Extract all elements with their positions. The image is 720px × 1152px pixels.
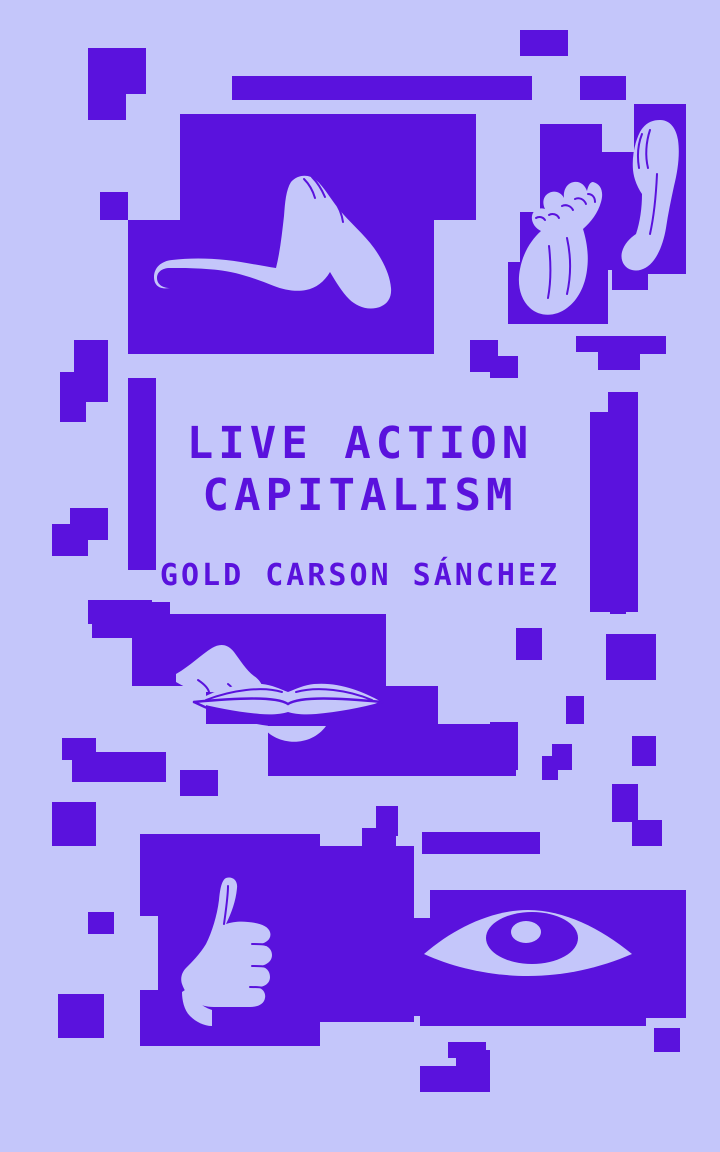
decor-tall-bar <box>590 412 638 612</box>
decor-block <box>576 336 628 352</box>
bent-leg-illustration <box>128 160 448 370</box>
decor-block <box>632 736 656 766</box>
eye-panel-c <box>420 1000 646 1026</box>
decor-block <box>490 356 518 378</box>
nose-lips-illustration <box>176 630 436 750</box>
decor-block <box>606 634 656 680</box>
decor-block <box>654 1028 680 1052</box>
foot-sole-illustration <box>505 158 620 323</box>
decor-block <box>88 94 126 120</box>
decor-block <box>420 1066 460 1092</box>
decor-block <box>542 756 558 780</box>
decor-block <box>520 30 568 56</box>
decor-block <box>88 48 146 94</box>
book-cover: LIVE ACTION CAPITALISM GOLD CARSON SÁNCH… <box>0 0 720 1152</box>
decor-block <box>52 524 88 556</box>
decor-block <box>632 820 662 846</box>
decor-block <box>516 628 542 660</box>
decor-block <box>342 888 368 976</box>
decor-block <box>60 372 86 422</box>
eye-illustration <box>420 900 636 1000</box>
decor-tall-bar-notch <box>608 392 638 418</box>
foot-profile-illustration <box>616 112 700 312</box>
decor-block <box>232 76 532 100</box>
decor-block <box>490 722 518 770</box>
decor-block <box>422 832 540 854</box>
decor-block <box>100 192 128 220</box>
decor-block <box>72 752 166 782</box>
decor-block <box>598 352 640 370</box>
decor-block <box>610 600 626 614</box>
decor-block <box>580 76 626 100</box>
decor-block <box>362 828 396 850</box>
decor-block <box>88 912 114 934</box>
decor-block <box>180 770 218 796</box>
decor-block <box>58 994 104 1038</box>
decor-block <box>612 784 638 822</box>
decor-block <box>566 696 584 724</box>
decor-block <box>128 378 156 570</box>
decor-block <box>456 1074 490 1092</box>
decor-block <box>52 802 96 846</box>
thumbs-up-illustration <box>168 874 298 1034</box>
